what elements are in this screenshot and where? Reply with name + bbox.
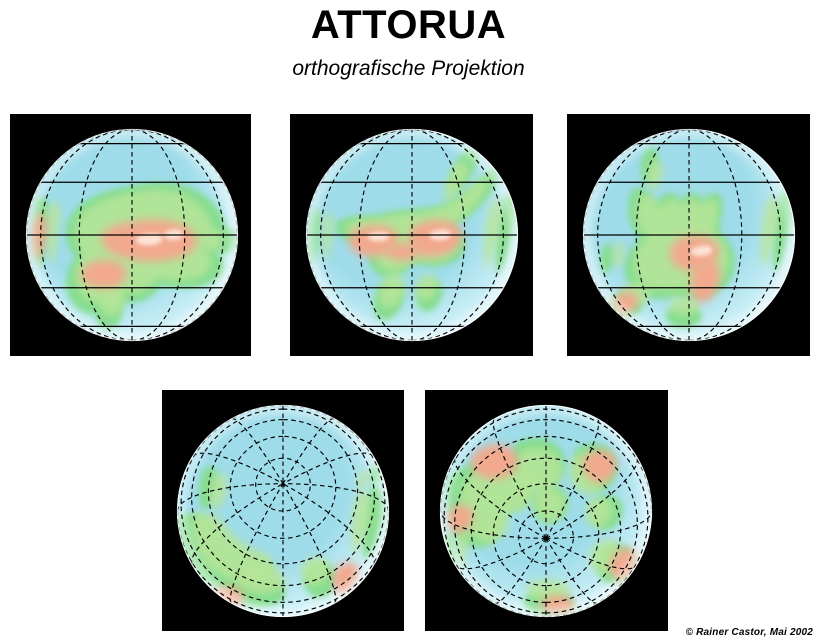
globe-equatorial-front [10, 114, 251, 356]
copyright-notice: © Rainer Castor, Mai 2002 [686, 627, 813, 638]
globe-polar-north [162, 390, 404, 631]
page-title: ATTORUA [0, 2, 817, 48]
page-subtitle: orthografische Projektion [0, 56, 817, 82]
globe-equatorial-third [567, 114, 810, 356]
globe-equatorial-second [290, 114, 533, 356]
globe-polar-south [425, 390, 668, 631]
